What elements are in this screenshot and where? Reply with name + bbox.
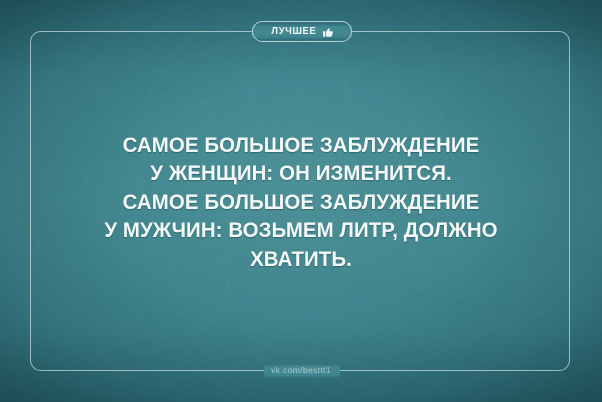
thumbs-up-icon [322,26,334,38]
best-badge-label: ЛУЧШЕЕ [271,27,316,37]
quote-line: У МУЖЧИН: ВОЗЬМЕМ ЛИТР, ДОЛЖНО [64,216,539,244]
quote-line: САМОЕ БОЛЬШОЕ ЗАБЛУЖДЕНИЕ [64,131,539,159]
quote-line: САМОЕ БОЛЬШОЕ ЗАБЛУЖДЕНИЕ [64,188,539,216]
quote-card: ЛУЧШЕЕ САМОЕ БОЛЬШОЕ ЗАБЛУЖДЕНИЕ У ЖЕНЩИ… [0,0,602,402]
quote-line: У ЖЕНЩИН: ОН ИЗМЕНИТСЯ. [64,159,539,187]
quote-text-block: САМОЕ БОЛЬШОЕ ЗАБЛУЖДЕНИЕ У ЖЕНЩИН: ОН И… [51,131,551,273]
watermark-source: vk.com/besttt1 [0,363,602,377]
quote-line: ХВАТИТЬ. [64,245,539,273]
best-badge: ЛУЧШЕЕ [252,21,352,42]
